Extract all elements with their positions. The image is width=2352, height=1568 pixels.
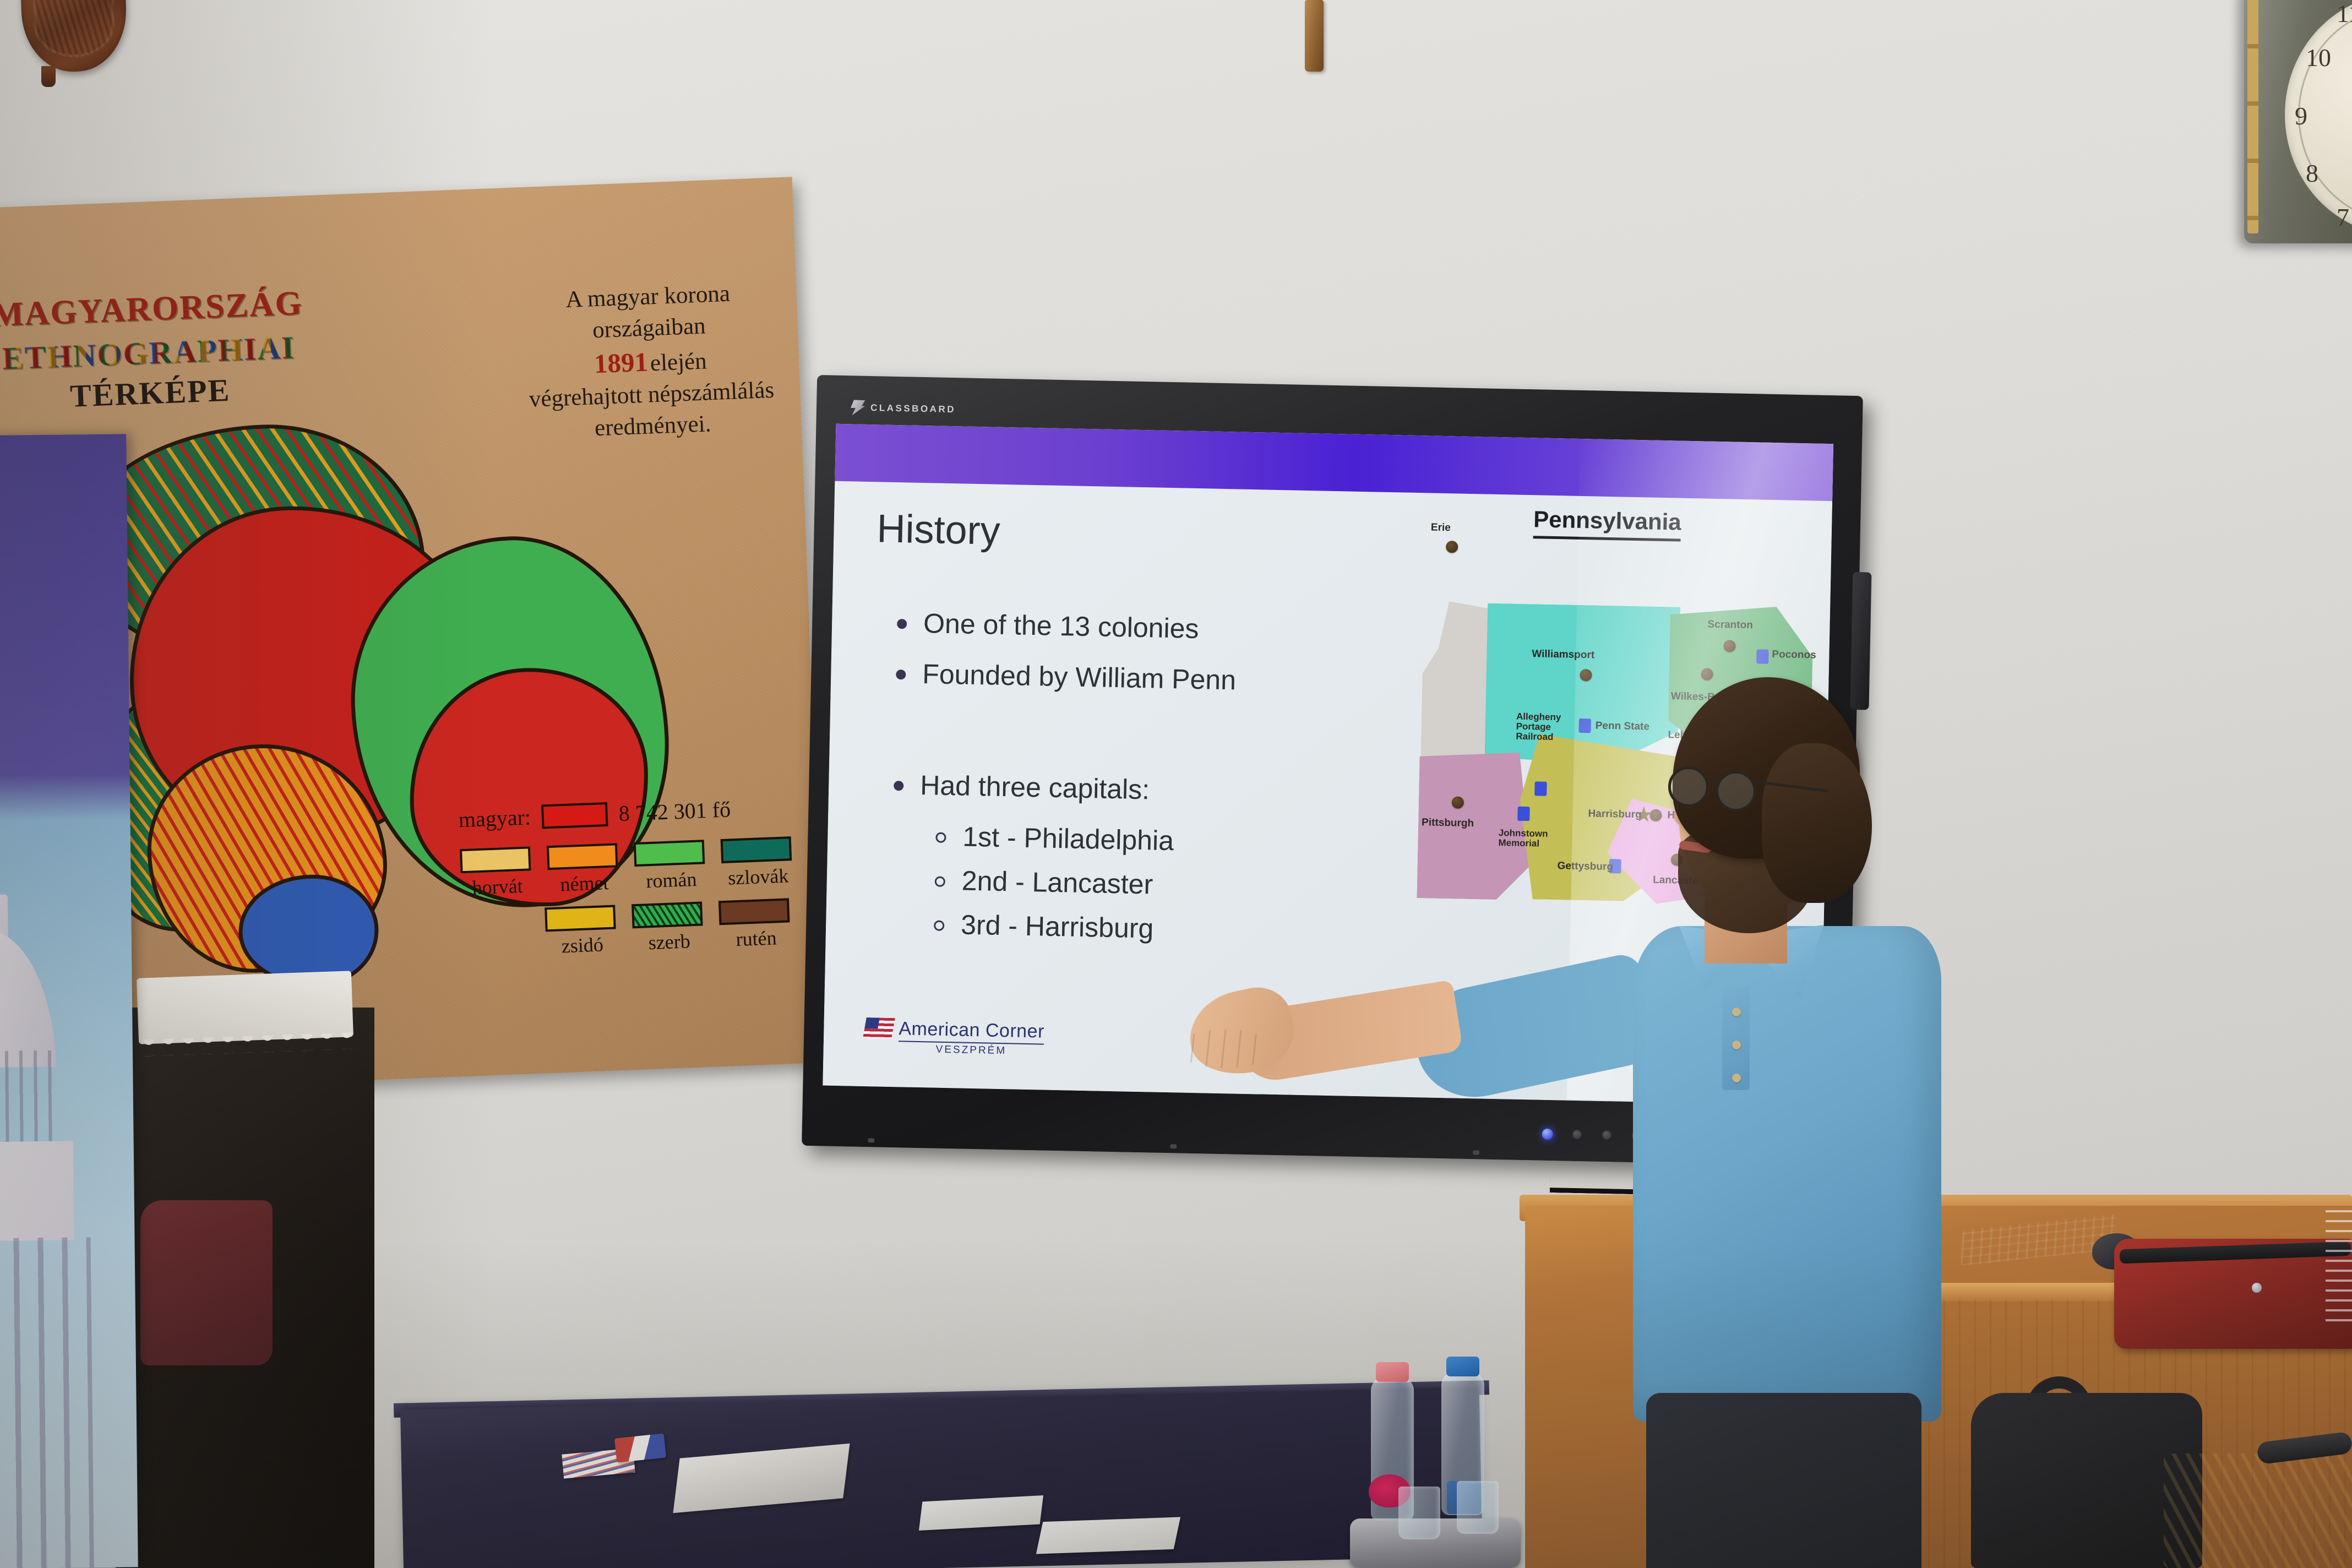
site-marker-allegheny-portage — [1534, 781, 1547, 796]
display-button-1[interactable] — [1572, 1129, 1583, 1140]
clock-numeral-10: 10 — [2306, 43, 2331, 72]
american-corner-name: American Corner — [899, 1018, 1044, 1042]
mount-screw — [1170, 1144, 1177, 1148]
legend-item-zsido: zsidó — [545, 905, 619, 958]
bullet-text: One of the 13 colonies — [923, 607, 1199, 645]
wall-clock: 11 10 9 8 7 — [2244, 0, 2352, 243]
map-label-allegheny-portage-railroad: Allegheny Portage Railroad — [1516, 712, 1577, 743]
wall-shadow-bottom — [0, 1238, 2352, 1568]
map-label-williamsport: Williamsport — [1532, 648, 1594, 661]
bullet-item: Founded by William Penn — [896, 657, 1403, 699]
classroom-scene: 11 10 9 8 7 MAGYARORSZÁG ETHNOGRAPHIAI T… — [0, 0, 2352, 1568]
clock-numeral-7: 7 — [2337, 203, 2349, 232]
poster-legend: magyar: 8 742 301 fő horvát német román — [458, 794, 805, 962]
presenter-shirt-button — [1732, 1008, 1741, 1016]
legend-row-1: horvát német román szlovák — [460, 836, 803, 900]
american-corner-logo: American Corner VESZPRÉM — [864, 1017, 1044, 1058]
map-label-johnstown-memorial: Johnstown Memorial — [1498, 828, 1550, 849]
slide-title: History — [876, 506, 1001, 553]
legend-swatch-roman — [634, 840, 705, 867]
display-brand-text: CLASSBOARD — [870, 402, 956, 415]
city-marker-erie — [1446, 541, 1458, 553]
legend-primary-count: 8 742 301 fő — [618, 796, 731, 826]
bullet-ring-icon — [934, 921, 944, 931]
legend-swatch-magyar — [541, 802, 608, 829]
legend-row-2: zsidó szerb rutén — [545, 897, 805, 958]
bullet-dot-icon — [896, 669, 906, 679]
glasses-temple-arm — [1756, 781, 1828, 792]
legend-swatch-szlovak — [721, 836, 792, 863]
map-label-poconos: Poconos — [1772, 649, 1816, 662]
site-marker-johnstown — [1517, 807, 1530, 821]
legend-item-szerb: szerb — [631, 901, 706, 955]
bullet-heading-text: Had three capitals: — [920, 769, 1150, 805]
glasses-lens-left — [1668, 766, 1709, 807]
legend-label-zsido: zsidó — [546, 932, 619, 958]
slide-bullet-list: One of the 13 colonies Founded by Willia… — [890, 607, 1403, 961]
site-marker-poconos — [1756, 649, 1769, 663]
legend-label-roman: román — [635, 867, 709, 893]
mount-screw — [1473, 1150, 1479, 1155]
presenter-fingers — [1178, 1030, 1266, 1068]
clock-gold-trim — [2247, 0, 2258, 233]
bullet-spacer — [894, 708, 1402, 778]
legend-item-roman: román — [634, 840, 708, 893]
legend-label-szlovak: szlovák — [722, 864, 796, 890]
legend-label-szerb: szerb — [633, 929, 706, 955]
presenter-shirt-button — [1732, 1074, 1741, 1082]
wall-peg — [1305, 0, 1324, 72]
poster-caption-line2: elején — [650, 348, 707, 376]
legend-label-ruten: rutén — [720, 925, 793, 951]
pennsylvania-map-title: Pennsylvania — [1533, 506, 1682, 541]
map-label-scranton: Scranton — [1707, 619, 1753, 632]
legend-item-ruten: rutén — [718, 898, 793, 951]
presenter-glasses — [1668, 766, 1828, 806]
sub-bullet-item: 1st - Philadelphia — [935, 820, 1400, 862]
american-corner-text: American Corner VESZPRÉM — [898, 1018, 1044, 1058]
us-flag-icon — [863, 1017, 895, 1039]
glasses-lens-right — [1716, 771, 1756, 812]
map-label-pittsburgh: Pittsburgh — [1422, 816, 1474, 830]
legend-item-nemet: német — [547, 843, 621, 896]
site-marker-penn-state — [1578, 718, 1591, 733]
sub-bullet-item: 2nd - Lancaster — [934, 864, 1398, 906]
legend-item-szlovak: szlovák — [721, 836, 795, 890]
legend-swatch-ruten — [718, 898, 790, 925]
legend-swatch-zsido — [545, 905, 616, 932]
display-brand: CLASSBOARD — [851, 400, 956, 417]
bullet-text: Founded by William Penn — [922, 658, 1237, 696]
bullet-dot-icon — [897, 619, 907, 629]
poster-caption-year: 1891 — [594, 346, 649, 379]
sub-bullet-text: 1st - Philadelphia — [962, 821, 1174, 857]
bullet-item: One of the 13 colonies — [897, 607, 1404, 649]
clock-numeral-11: 11 — [2337, 0, 2352, 28]
sub-bullet-text: 3rd - Harrisburg — [961, 909, 1154, 945]
legend-swatch-nemet — [547, 843, 618, 870]
bullet-dot-icon — [894, 781, 903, 791]
power-led-icon — [1542, 1129, 1553, 1140]
presenter-shirt-button — [1732, 1041, 1741, 1049]
american-corner-location: VESZPRÉM — [898, 1041, 1044, 1058]
glasses-bridge — [1709, 777, 1718, 780]
poster-caption-line1: A magyar korona országaiban — [521, 277, 776, 349]
bullet-ring-icon — [935, 832, 946, 843]
sub-bullet-text: 2nd - Lancaster — [961, 865, 1153, 901]
sub-bullet-item: 3rd - Harrisburg — [934, 908, 1398, 950]
bullet-ring-icon — [935, 876, 945, 887]
map-label-erie: Erie — [1431, 522, 1451, 535]
clock-minute-dots — [2350, 52, 2352, 189]
mount-screw — [868, 1138, 874, 1142]
legend-label-nemet: német — [548, 870, 622, 896]
classboard-logo-icon — [851, 400, 865, 416]
legend-swatch-szerb — [631, 901, 703, 928]
clock-numeral-8: 8 — [2306, 159, 2318, 188]
clock-numeral-9: 9 — [2295, 101, 2307, 130]
